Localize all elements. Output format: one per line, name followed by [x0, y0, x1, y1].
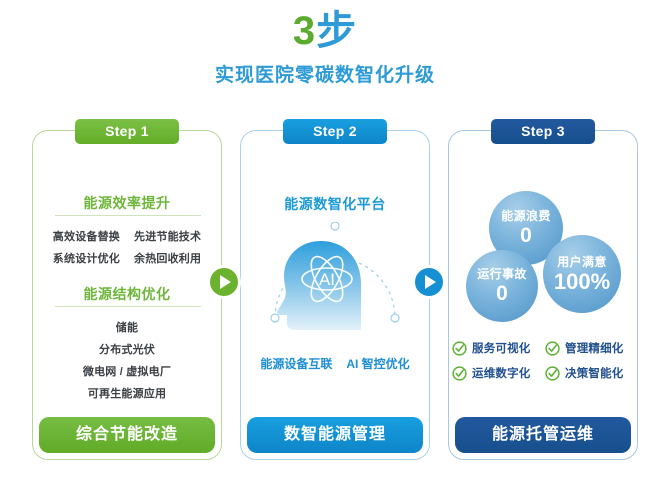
step-3-footer-label[interactable]: 能源托管运维 [455, 417, 631, 453]
step-1-item: 系统设计优化 [53, 250, 120, 266]
checklist-item: 管理精细化 [545, 340, 634, 356]
checklist-item: 服务可视化 [452, 340, 541, 356]
check-circle-icon [545, 366, 560, 381]
checklist-item: 运维数字化 [452, 365, 541, 381]
checklist-item: 决策智能化 [545, 365, 634, 381]
ai-head-icon: AI [253, 222, 417, 342]
metric-value: 0 [520, 224, 532, 247]
checklist-label: 决策智能化 [565, 365, 624, 381]
step-1-footer-label[interactable]: 综合节能改造 [39, 417, 215, 453]
step-2-label-2: AI 智控优化 [346, 355, 409, 372]
play-arrow-green-icon[interactable] [207, 265, 241, 299]
step-1-item: 微电网 / 虚拟电厂 [33, 363, 221, 379]
step-1-item: 储能 [33, 319, 221, 335]
checklist-label: 运维数字化 [472, 365, 531, 381]
check-circle-icon [545, 341, 560, 356]
step-1-item: 高效设备替换 [53, 228, 120, 244]
ai-label: AI [319, 270, 335, 289]
checklist-label: 服务可视化 [472, 340, 531, 356]
metric-value: 0 [496, 282, 508, 305]
metric-bubble-user-satisfaction: 用户满意 100% [543, 235, 621, 313]
step-2-badge[interactable]: Step 2 [283, 119, 387, 144]
checklist-label: 管理精细化 [565, 340, 624, 356]
step-1-item: 分布式光伏 [33, 341, 221, 357]
ai-brain-graphic: AI [253, 222, 417, 342]
step-1-panel: 能源效率提升 高效设备替换先进节能技术 系统设计优化余热回收利用 能源结构优化 … [32, 130, 222, 460]
step-1-item: 余热回收利用 [134, 250, 201, 266]
metric-value: 100% [554, 270, 610, 293]
divider [55, 306, 201, 307]
step-1-item: 先进节能技术 [134, 228, 201, 244]
step-1-badge[interactable]: Step 1 [75, 119, 179, 144]
title-number: 3 [293, 9, 316, 53]
step-1-row-2: 系统设计优化余热回收利用 [33, 250, 221, 266]
page-subtitle: 实现医院零碳数智化升级 [0, 60, 650, 87]
step-1-section-1-heading: 能源效率提升 [33, 193, 221, 213]
metric-label: 运行事故 [477, 267, 527, 282]
step-1-section-2-heading: 能源结构优化 [33, 284, 221, 304]
step-2-label-1: 能源设备互联 [260, 355, 332, 372]
metric-label: 能源浪费 [501, 209, 551, 224]
play-arrow-blue-icon[interactable] [412, 265, 446, 299]
check-circle-icon [452, 341, 467, 356]
step-1-row-1: 高效设备替换先进节能技术 [33, 228, 221, 244]
step-2-heading: 能源数智化平台 [240, 194, 430, 214]
check-circle-icon [452, 366, 467, 381]
title-unit: 步 [316, 9, 357, 53]
metric-label: 用户满意 [557, 255, 607, 270]
step-2-footer-label[interactable]: 数智能源管理 [247, 417, 423, 453]
step-3-badge[interactable]: Step 3 [491, 119, 595, 144]
step-2-labels: 能源设备互联 AI 智控优化 [240, 355, 430, 372]
infographic-canvas: 3步 实现医院零碳数智化升级 能源效率提升 高效设备替换先进节能技术 系统设计优… [0, 0, 650, 493]
step-1-item: 可再生能源应用 [33, 385, 221, 401]
step-3-checklist: 服务可视化 管理精细化 运维数字化 决策智能化 [452, 340, 634, 381]
page-title: 3步 [0, 8, 650, 54]
divider [55, 215, 201, 216]
metric-bubble-operation-accidents: 运行事故 0 [466, 250, 538, 322]
